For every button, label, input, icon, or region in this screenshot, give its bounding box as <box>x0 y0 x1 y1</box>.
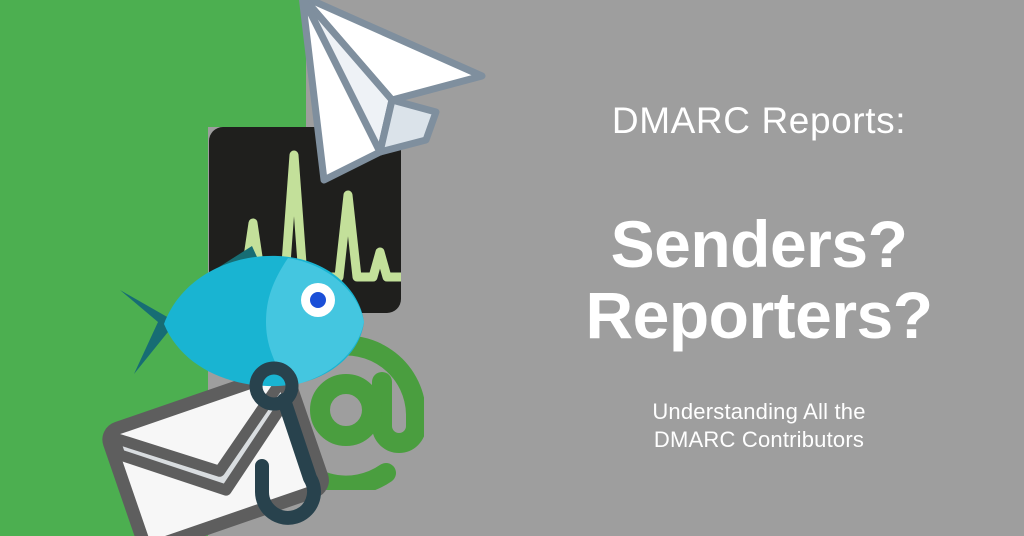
text-block: DMARC Reports: Senders? Reporters? Under… <box>494 0 1024 536</box>
hook-body <box>262 400 314 518</box>
headline-line-2: Reporters? <box>494 280 1024 351</box>
subtitle: Understanding All the DMARC Contributors <box>494 398 1024 454</box>
headline: Senders? Reporters? <box>494 209 1024 351</box>
headline-line-1: Senders? <box>494 209 1024 280</box>
fish-eye-pupil <box>310 292 326 308</box>
eyebrow-text: DMARC Reports: <box>494 98 1024 144</box>
plane-tail <box>380 100 436 152</box>
subtitle-line-2: DMARC Contributors <box>494 426 1024 454</box>
fishing-hook-icon <box>232 356 352 536</box>
subtitle-line-1: Understanding All the <box>494 398 1024 426</box>
banner-image: DMARC Reports: Senders? Reporters? Under… <box>0 0 1024 536</box>
paper-plane-icon <box>276 0 506 184</box>
fish-tail <box>120 290 176 374</box>
